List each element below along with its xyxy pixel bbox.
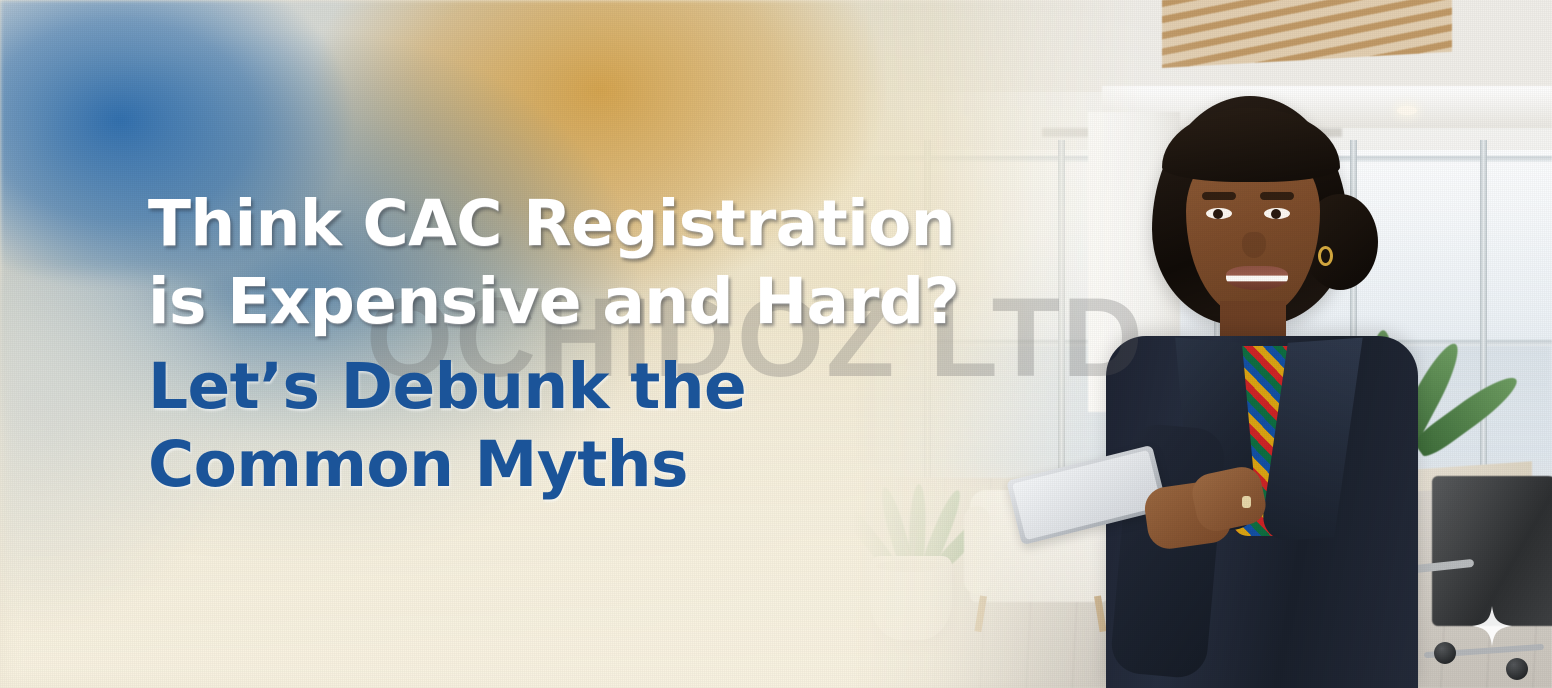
headline-line-1: Think CAC Registration bbox=[148, 192, 959, 256]
headline-line-4: Common Myths bbox=[148, 433, 959, 497]
headline-block: Think CAC Registration is Expensive and … bbox=[148, 192, 959, 511]
hero-banner: OCHIDOZ LTD Think CAC Registration is Ex… bbox=[0, 0, 1552, 688]
headline-line-3: Let’s Debunk the bbox=[148, 355, 959, 419]
headline-line-2: is Expensive and Hard? bbox=[148, 270, 959, 334]
